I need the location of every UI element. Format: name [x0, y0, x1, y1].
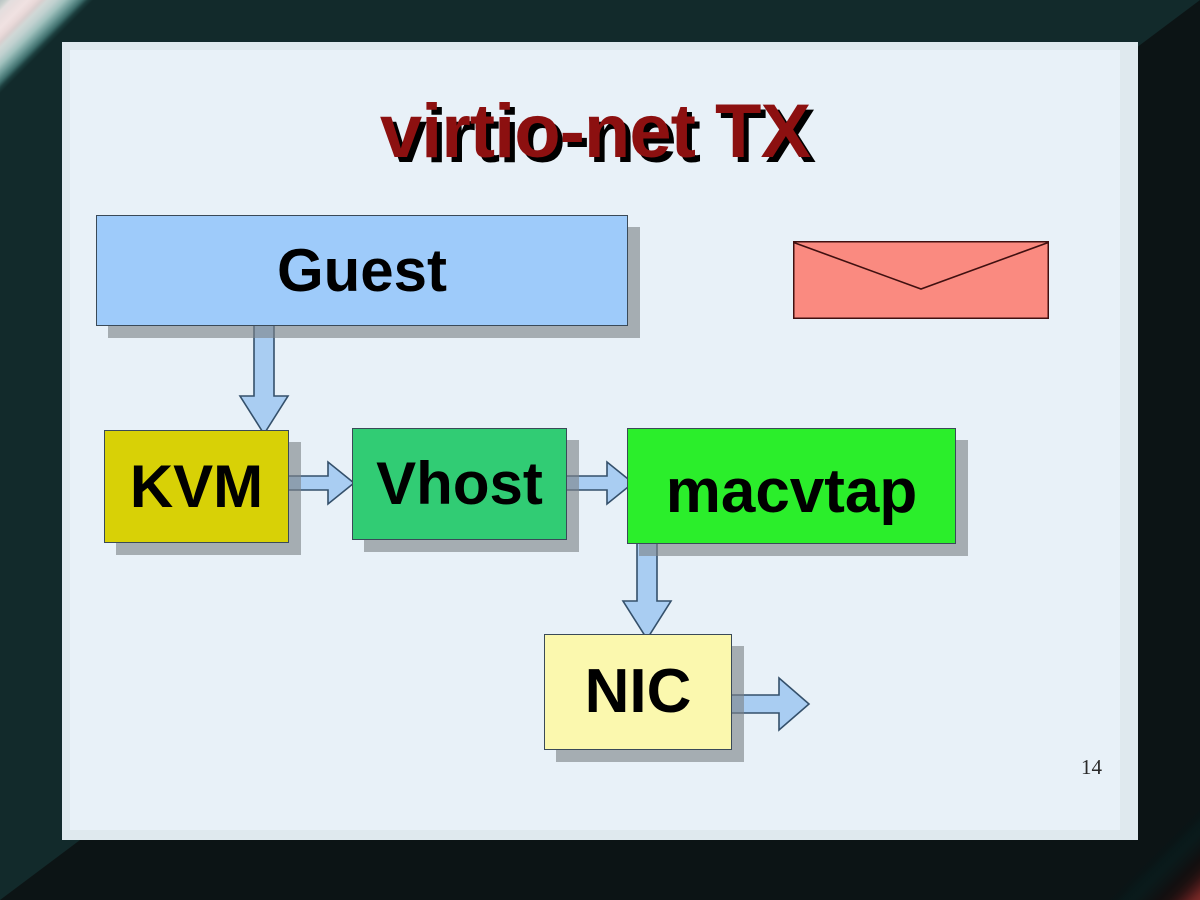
- node-macvtap[interactable]: macvtap: [627, 428, 956, 544]
- envelope-icon: [793, 241, 1049, 319]
- node-nic-label: NIC: [585, 661, 692, 723]
- node-nic[interactable]: NIC: [544, 634, 732, 750]
- node-kvm-label: KVM: [130, 457, 263, 517]
- node-macvtap-label: macvtap: [666, 461, 918, 523]
- slide-frame-stage: virtio-net TX Guest KVM Vhost macvtap NI…: [0, 0, 1200, 900]
- slide-canvas: virtio-net TX Guest KVM Vhost macvtap NI…: [70, 50, 1120, 830]
- arrow-guest-to-kvm: [238, 312, 290, 441]
- node-guest[interactable]: Guest: [96, 215, 628, 326]
- node-guest-label: Guest: [277, 241, 447, 301]
- arrow-vhost-to-macvtap: [561, 460, 635, 511]
- node-vhost-label: Vhost: [376, 454, 543, 514]
- page-title: virtio-net TX: [70, 88, 1120, 175]
- node-vhost[interactable]: Vhost: [352, 428, 567, 540]
- arrow-kvm-to-vhost: [282, 460, 356, 511]
- node-kvm[interactable]: KVM: [104, 430, 289, 543]
- arrow-nic-to-network: [725, 675, 811, 738]
- arrow-macvtap-to-nic: [621, 537, 673, 646]
- page-number: 14: [1081, 755, 1102, 780]
